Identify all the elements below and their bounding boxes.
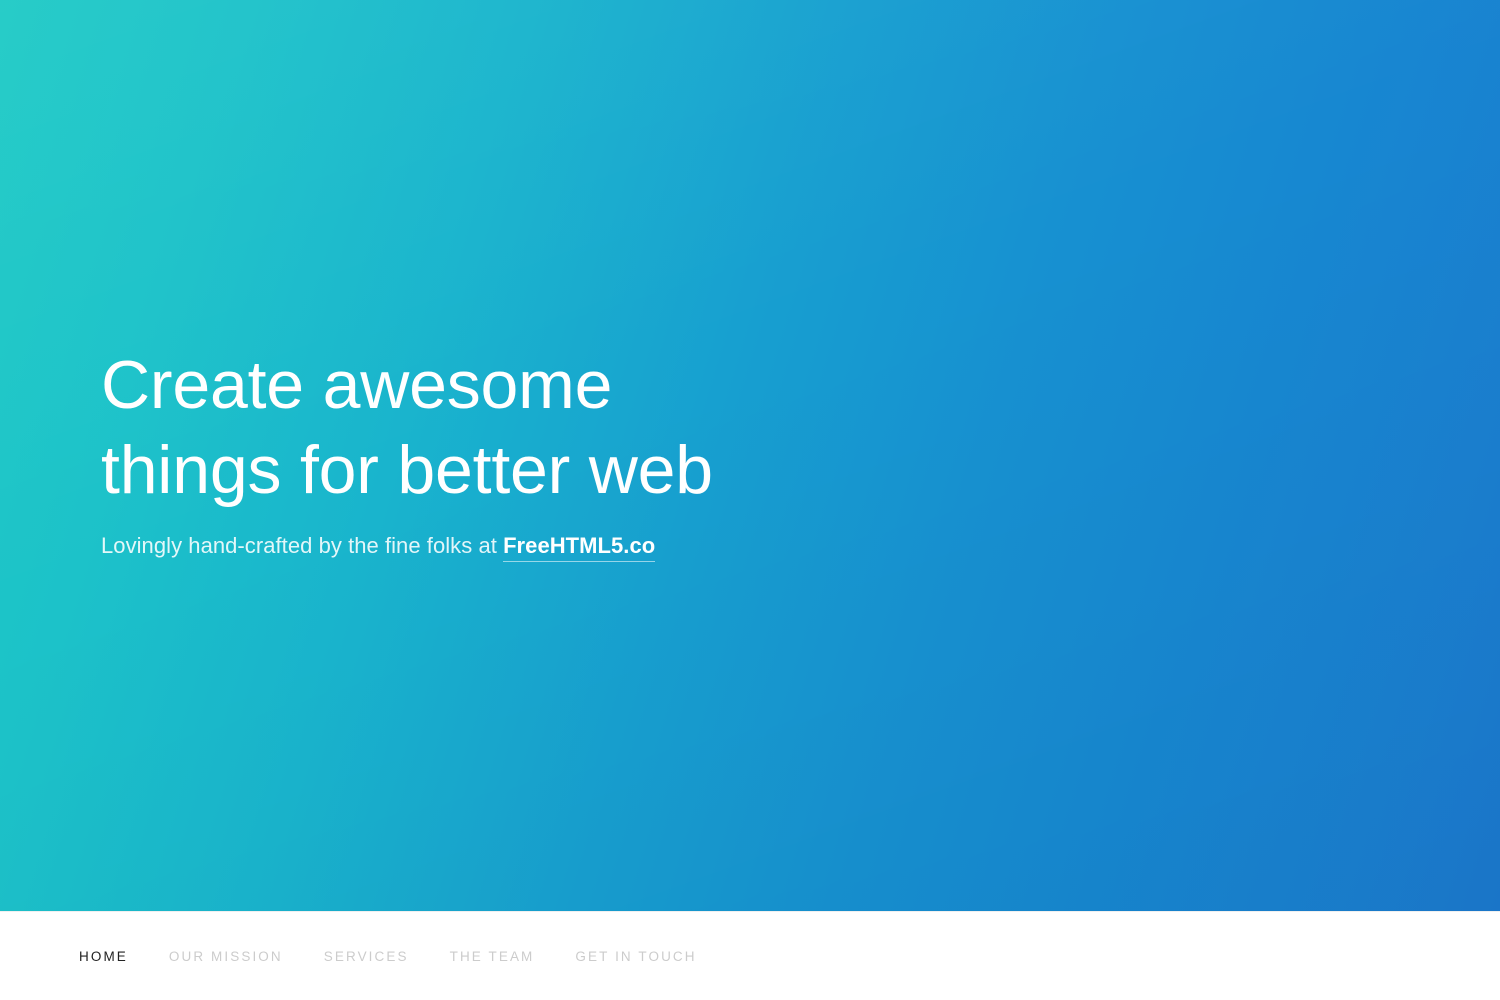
freehtml5-link[interactable]: FreeHTML5.co [503, 533, 655, 562]
hero-content: Create awesome things for better web Lov… [0, 343, 1500, 569]
page-title: Create awesome things for better web [101, 343, 1500, 513]
nav-link-services[interactable]: SERVICES [324, 943, 409, 970]
nav-item-services: SERVICES [324, 943, 409, 970]
main-navigation: HOME OUR MISSION SERVICES THE TEAM GET I… [0, 911, 1500, 1000]
hero-subtitle: Lovingly hand-crafted by the fine folks … [101, 531, 1500, 561]
nav-link-the-team[interactable]: THE TEAM [450, 943, 535, 970]
nav-item-home: HOME [79, 943, 128, 970]
nav-item-our-mission: OUR MISSION [169, 943, 283, 970]
nav-item-the-team: THE TEAM [450, 943, 535, 970]
nav-list: HOME OUR MISSION SERVICES THE TEAM GET I… [79, 943, 697, 970]
nav-link-get-in-touch[interactable]: GET IN TOUCH [575, 943, 696, 970]
nav-item-get-in-touch: GET IN TOUCH [575, 943, 696, 970]
nav-link-our-mission[interactable]: OUR MISSION [169, 943, 283, 970]
page-root: Create awesome things for better web Lov… [0, 0, 1500, 1000]
nav-link-home[interactable]: HOME [79, 943, 128, 970]
hero-section: Create awesome things for better web Lov… [0, 0, 1500, 911]
hero-subtitle-text: Lovingly hand-crafted by the fine folks … [101, 533, 503, 558]
